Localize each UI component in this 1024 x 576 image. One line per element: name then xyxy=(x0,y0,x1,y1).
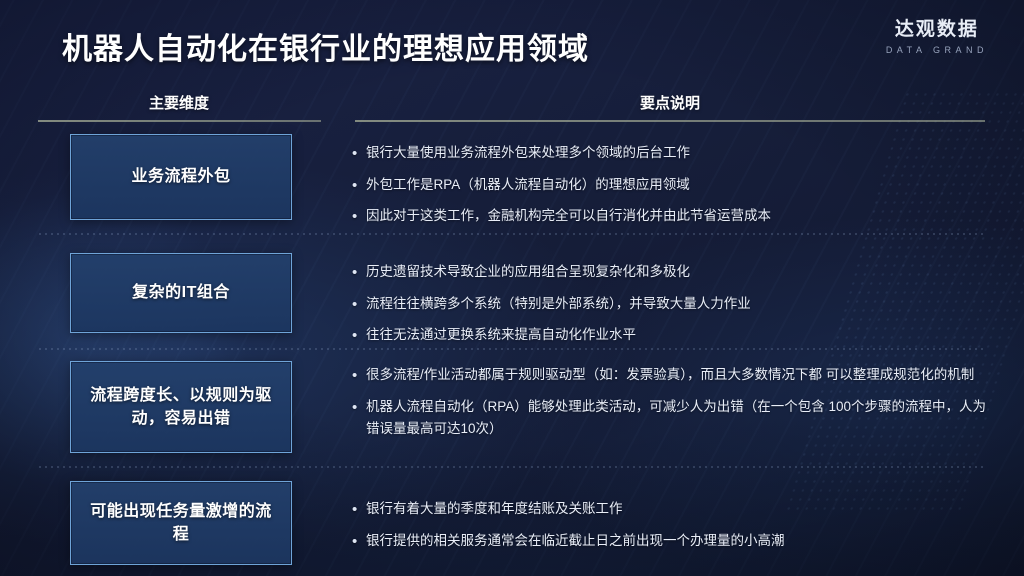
dimension-label: 业务流程外包 xyxy=(131,165,230,188)
points-list: 银行有着大量的季度和年度结账及关账工作 银行提供的相关服务通常会在临近截止日之前… xyxy=(352,498,992,552)
list-item: 机器人流程自动化（RPA）能够处理此类活动，可减少人为出错（在一个包含 100个… xyxy=(352,396,992,441)
slide-title: 机器人自动化在银行业的理想应用领域 xyxy=(62,24,589,68)
dimension-label: 流程跨度长、以规则为驱动，容易出错 xyxy=(83,384,279,430)
list-item: 银行大量使用业务流程外包来处理多个领域的后台工作 xyxy=(352,142,992,165)
points-list: 历史遗留技术导致企业的应用组合呈现复杂化和多极化 流程往往横跨多个系统（特别是外… xyxy=(352,261,992,347)
points-list: 很多流程/作业活动都属于规则驱动型（如：发票验真），而且大多数情况下都 可以整理… xyxy=(352,364,992,441)
list-item: 往往无法通过更换系统来提高自动化作业水平 xyxy=(352,324,992,347)
column-header-rule-left xyxy=(38,120,321,122)
list-item: 流程往往横跨多个系统（特别是外部系统），并导致大量人力作业 xyxy=(352,293,992,316)
list-item: 银行有着大量的季度和年度结账及关账工作 xyxy=(352,498,992,521)
list-item: 银行提供的相关服务通常会在临近截止日之前出现一个办理量的小高潮 xyxy=(352,530,992,553)
points-list: 银行大量使用业务流程外包来处理多个领域的后台工作 外包工作是RPA（机器人流程自… xyxy=(352,142,992,228)
row-separator xyxy=(37,348,985,350)
logo-english-name: DATA GRAND xyxy=(886,46,988,55)
dimension-box: 可能出现任务量激增的流程 xyxy=(70,481,292,565)
dimension-box: 业务流程外包 xyxy=(70,134,292,220)
slide: 机器人自动化在银行业的理想应用领域 达观数据 DATA GRAND 主要维度 要… xyxy=(0,0,1024,576)
row-separator xyxy=(37,466,985,468)
dimension-box: 流程跨度长、以规则为驱动，容易出错 xyxy=(70,361,292,453)
row-separator xyxy=(37,233,985,235)
list-item: 很多流程/作业活动都属于规则驱动型（如：发票验真），而且大多数情况下都 可以整理… xyxy=(352,364,992,387)
column-header-details: 要点说明 xyxy=(355,92,985,113)
column-header-rule-right xyxy=(355,120,985,122)
dimension-label: 复杂的IT组合 xyxy=(132,281,230,304)
list-item: 因此对于这类工作，金融机构完全可以自行消化并由此节省运营成本 xyxy=(352,205,992,228)
logo-chinese-name: 达观数据 xyxy=(886,20,988,39)
brand-logo: 达观数据 DATA GRAND xyxy=(886,20,988,55)
list-item: 历史遗留技术导致企业的应用组合呈现复杂化和多极化 xyxy=(352,261,992,284)
column-header-dimension: 主要维度 xyxy=(38,92,320,113)
dimension-label: 可能出现任务量激增的流程 xyxy=(83,500,279,546)
dimension-box: 复杂的IT组合 xyxy=(70,253,292,333)
list-item: 外包工作是RPA（机器人流程自动化）的理想应用领域 xyxy=(352,174,992,197)
